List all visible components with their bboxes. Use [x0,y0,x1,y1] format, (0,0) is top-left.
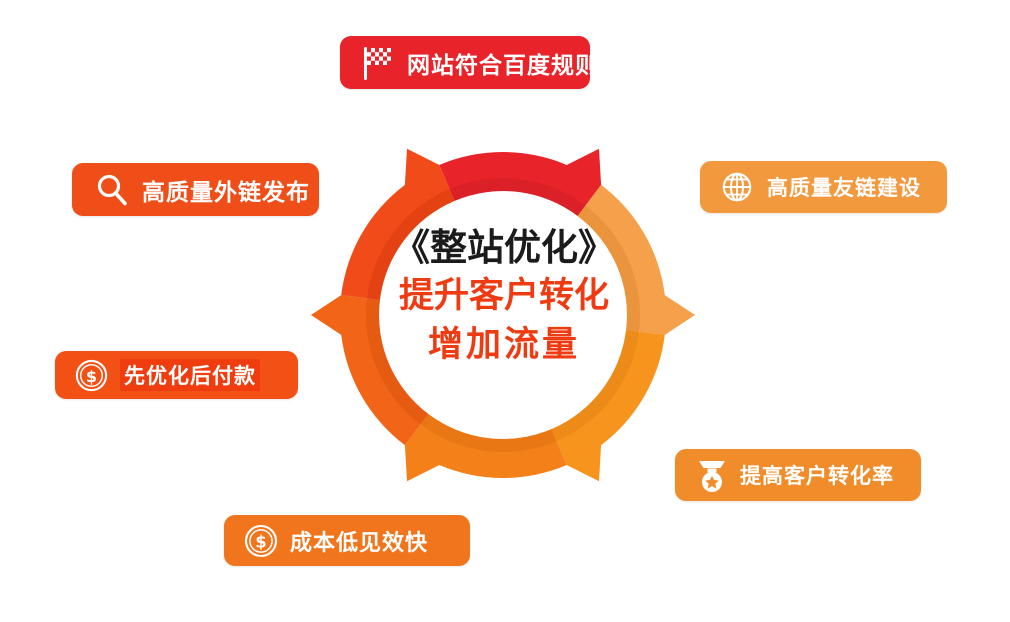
badge-label: 提高客户转化率 [740,460,894,490]
segment-lower-right [551,330,664,481]
badge-label: 高质量外链发布 [142,173,310,207]
globe-icon [720,170,754,204]
badge-label: 先优化后付款 [120,359,260,391]
badge-label: 网站符合百度规则 [407,46,599,80]
badge-external-links[interactable]: 高质量外链发布 [72,163,319,216]
badge-label: 成本低见效快 [290,525,428,557]
search-icon [94,172,130,208]
badge-low-cost-fast-results[interactable]: $ 成本低见效快 [224,515,470,566]
badge-conversion-rate[interactable]: 提高客户转化率 [675,449,921,501]
badge-label: 高质量友链建设 [767,172,921,202]
central-ring [311,123,695,507]
ring-svg [311,123,695,507]
checkered-flag-icon [358,44,398,82]
badge-baidu-rules[interactable]: 网站符合百度规则 [340,36,590,89]
badge-friendly-links[interactable]: 高质量友链建设 [700,161,947,213]
medal-star-icon [695,457,729,493]
badge-pay-after-optimization[interactable]: $ 先优化后付款 [55,351,298,399]
coin-dollar-icon: $ [75,359,108,392]
svg-text:$: $ [86,367,97,386]
segment-upper-left [341,149,454,300]
svg-text:$: $ [255,532,266,551]
coin-dollar-icon: $ [244,524,278,558]
infographic-canvas: 《整站优化》 提升客户转化 增加流量 [0,0,1010,622]
